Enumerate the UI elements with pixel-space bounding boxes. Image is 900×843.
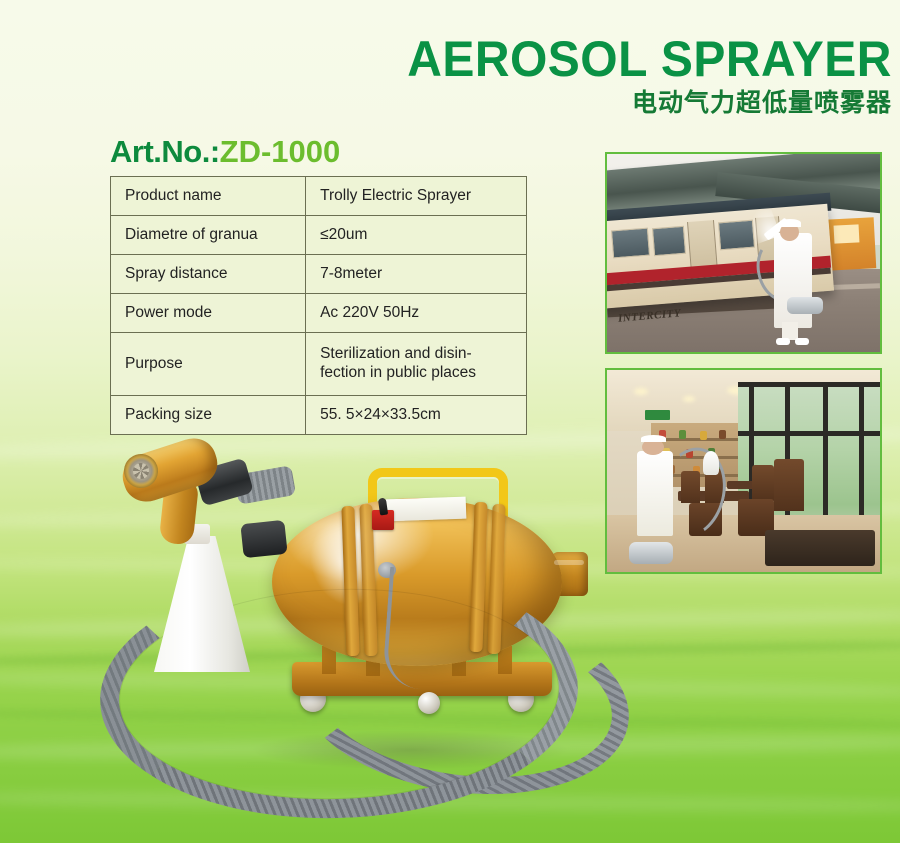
page-title: AEROSOL SPRAYER (407, 34, 892, 84)
worker-body (637, 451, 672, 536)
worker-shoe (776, 338, 790, 345)
spec-value: Ac 220V 50Hz (306, 294, 527, 333)
product-poster: AEROSOL SPRAYER 电动气力超低量喷雾器 Art.No.:ZD-10… (0, 0, 900, 843)
article-number-label: Art.No.: (110, 134, 220, 169)
spec-key: Spray distance (111, 255, 306, 294)
sprayer-bottle (703, 451, 719, 475)
sprayer-unit (629, 542, 673, 564)
table-row: Product name Trolly Electric Sprayer (111, 177, 527, 216)
spec-key: Purpose (111, 333, 306, 396)
shelf-jar (700, 431, 707, 440)
specification-table: Product name Trolly Electric Sprayer Dia… (110, 176, 527, 435)
tank-cap-ring (554, 560, 584, 565)
worker-cap (779, 219, 801, 227)
chair-back (774, 459, 804, 512)
sprayer-unit (787, 297, 822, 315)
spec-value: Sterilization and disin- fection in publ… (306, 333, 527, 396)
spec-key: Product name (111, 177, 306, 216)
bench-seat (765, 530, 874, 566)
product-label-sticker (386, 497, 467, 522)
worker-shoe (795, 338, 809, 345)
restaurant-scene (607, 370, 880, 572)
spec-value: 7-8meter (306, 255, 527, 294)
photo-restaurant-disinfection (605, 368, 882, 574)
spec-key: Power mode (111, 294, 306, 333)
worker-cap (641, 435, 666, 442)
spec-key: Packing size (111, 396, 306, 435)
spec-key: Diametre of granua (111, 216, 306, 255)
table-row: Packing size 55. 5×24×33.5cm (111, 396, 527, 435)
spec-value: 55. 5×24×33.5cm (306, 396, 527, 435)
window-crossbar (738, 431, 880, 436)
article-number-value: ZD-1000 (220, 134, 341, 169)
photo-train-disinfection: INTERCITY (605, 152, 882, 354)
headline-block: AEROSOL SPRAYER 电动气力超低量喷雾器 (387, 34, 892, 115)
train-window (611, 228, 651, 259)
shelf-jar (719, 430, 726, 439)
window-crossbar (738, 382, 880, 387)
train-window (652, 226, 686, 256)
page-subtitle-chinese: 电动气力超低量喷雾器 (387, 90, 892, 115)
table-row: Purpose Sterilization and disin- fection… (111, 333, 527, 396)
spec-value: Trolly Electric Sprayer (306, 177, 527, 216)
spec-value: ≤20um (306, 216, 527, 255)
train-scene: INTERCITY (607, 154, 880, 352)
exit-sign-icon (645, 410, 670, 420)
shelf-jar (679, 430, 686, 439)
chair-back (752, 465, 774, 501)
table-row: Power mode Ac 220V 50Hz (111, 294, 527, 333)
product-image-sprayer (100, 440, 620, 810)
hose-inlet-fitting (240, 520, 287, 558)
table-row: Diametre of granua ≤20um (111, 216, 527, 255)
locomotive-window (833, 225, 858, 244)
table-row: Spray distance 7-8meter (111, 255, 527, 294)
article-number: Art.No.:ZD-1000 (110, 134, 340, 170)
